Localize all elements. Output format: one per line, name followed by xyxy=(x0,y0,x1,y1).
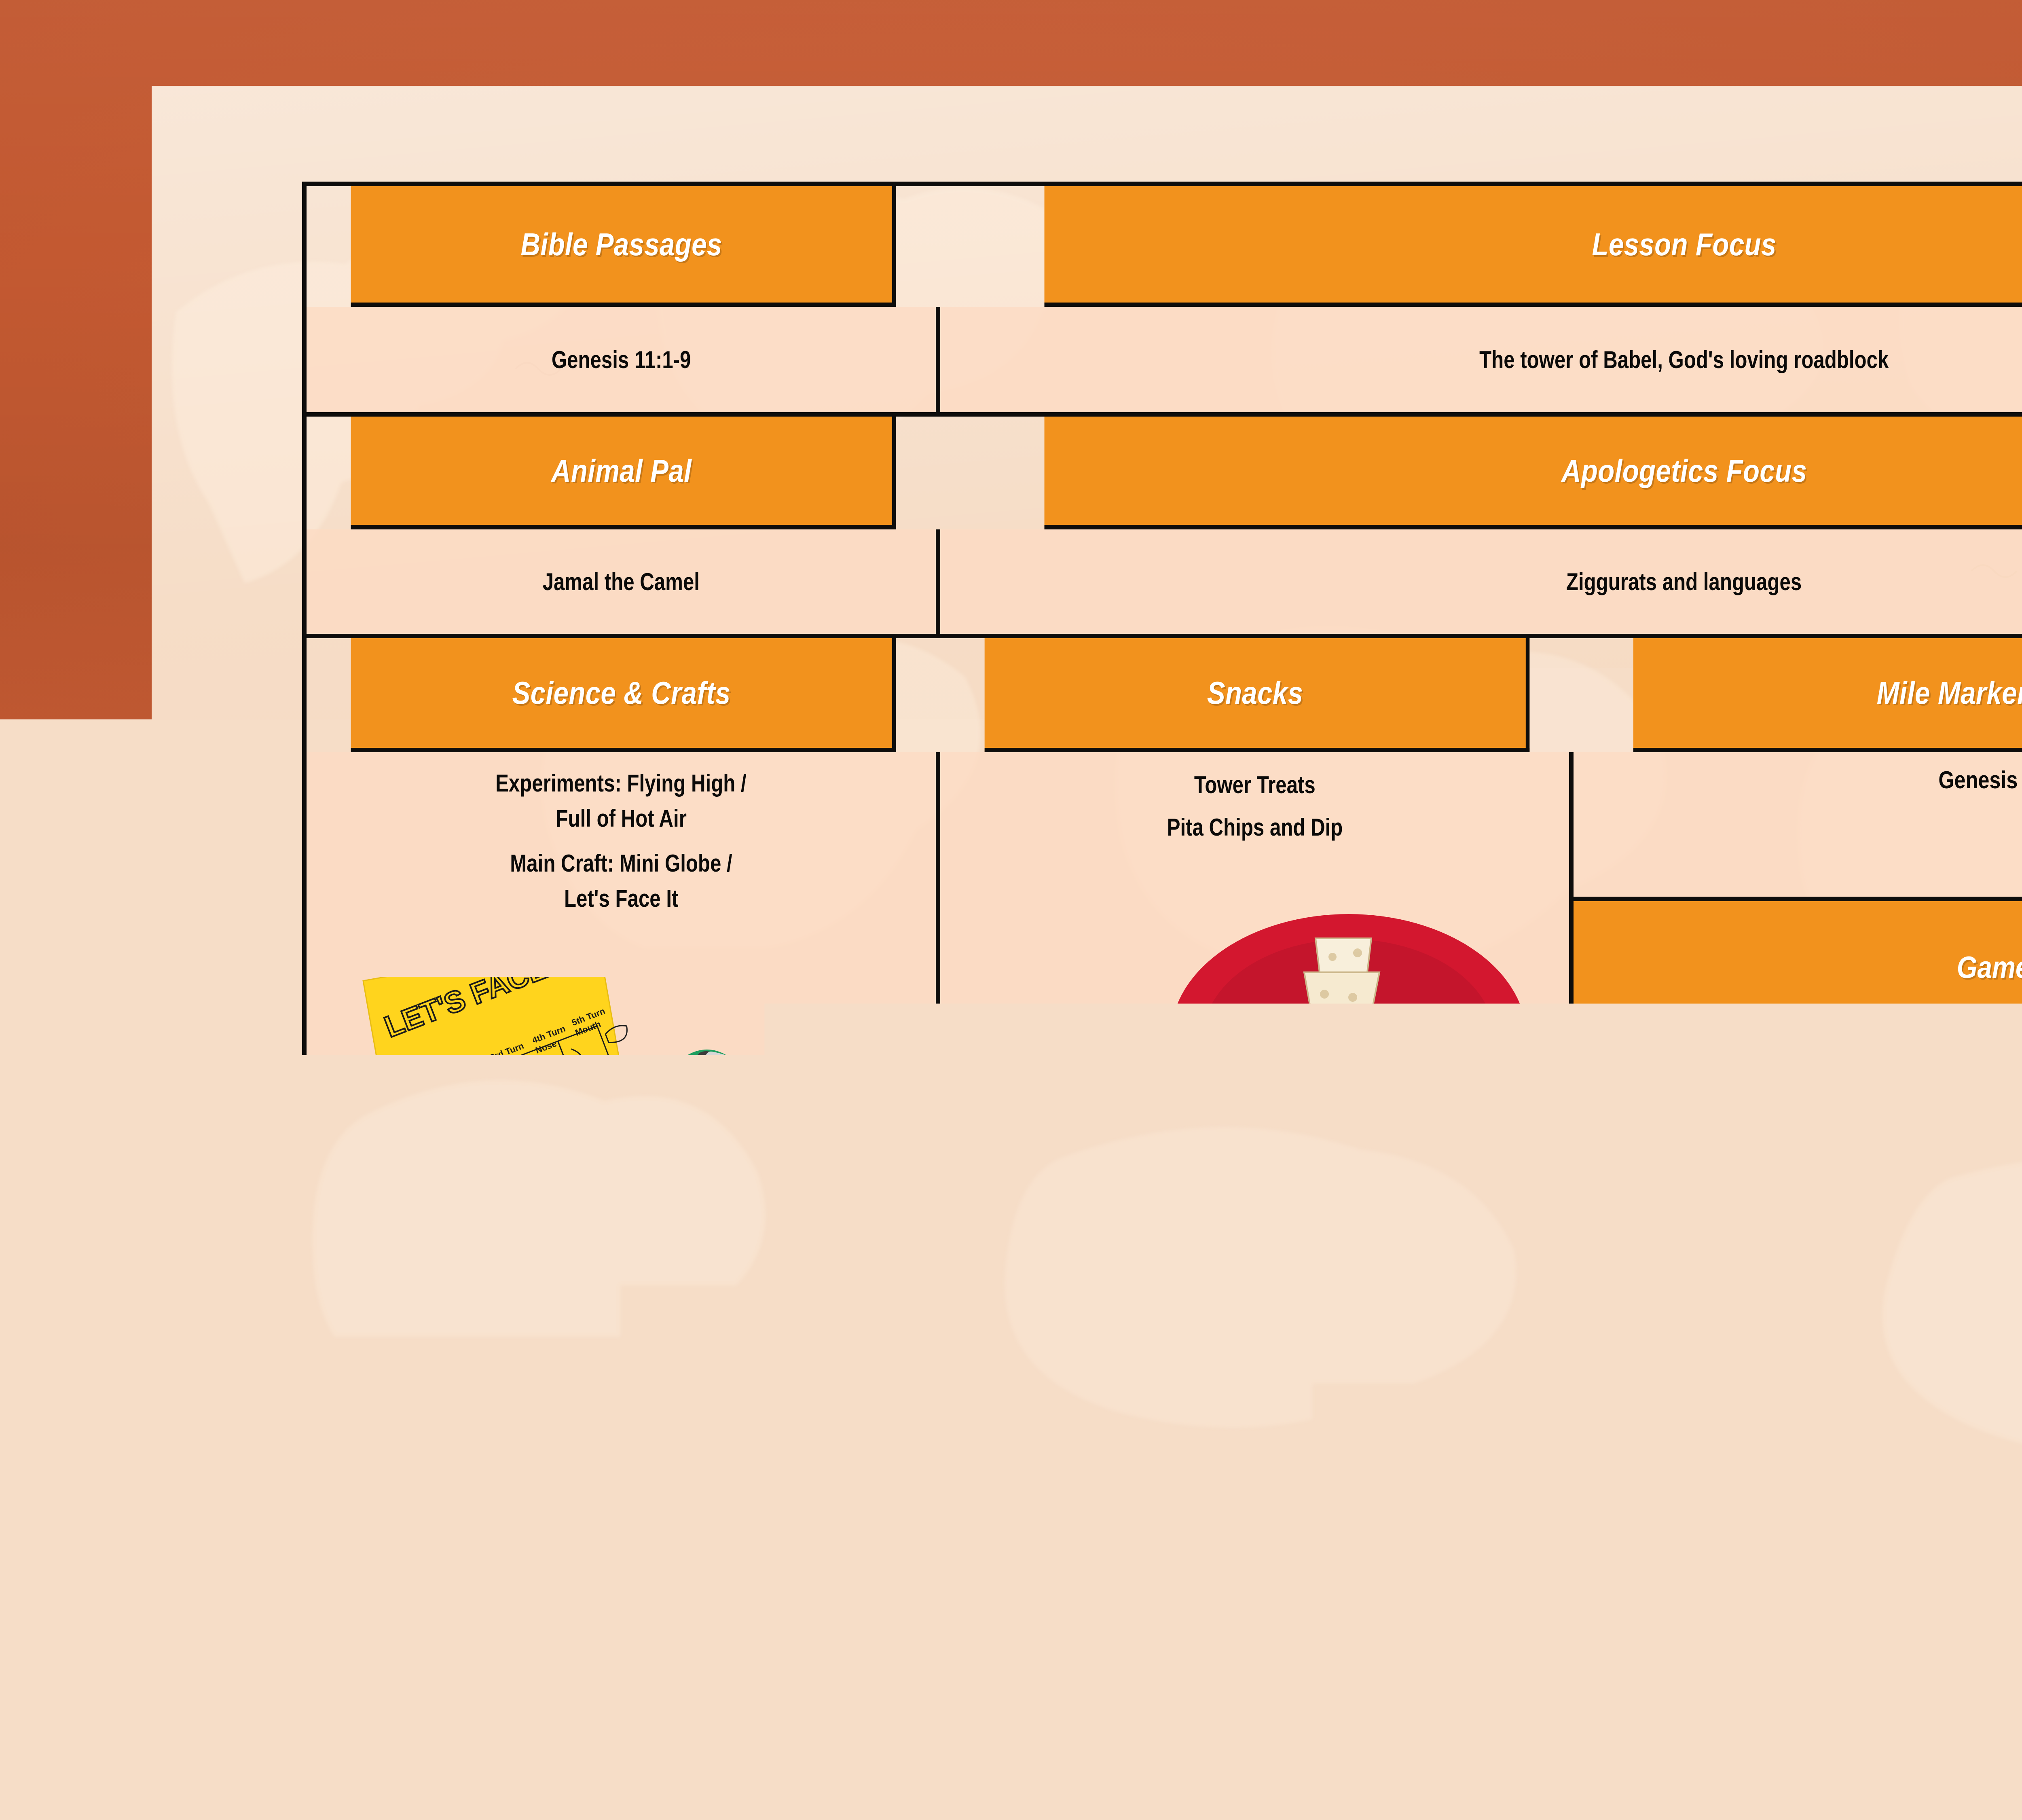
value-lesson-focus: The tower of Babel, God's loving roadblo… xyxy=(940,307,2022,417)
snack-photo xyxy=(944,874,1567,1407)
header-science-crafts: Science & Crafts xyxy=(351,638,896,752)
polka-dot-plate xyxy=(946,1095,1392,1404)
science-line-4: Let's Face It xyxy=(564,884,678,913)
science-line-1: Experiments: Flying High / xyxy=(496,768,747,798)
die-icon xyxy=(331,1244,393,1304)
header-animal-pal: Animal Pal xyxy=(351,417,896,529)
header-games: Games xyxy=(1574,901,2022,1039)
value-apologetics-focus: Ziggurats and languages xyxy=(940,529,2022,638)
mile-marker-stack: Genesis 11:9 Games Asian Games Cool Cont… xyxy=(1574,752,2022,1585)
table-row: Genesis 11:1-9 The tower of Babel, God's… xyxy=(307,307,2022,417)
lesson-overview-table: Bible Passages Lesson Focus Genesis 11:1… xyxy=(302,182,2022,1589)
header-lesson-focus: Lesson Focus xyxy=(1044,186,2022,307)
snack-line-1: Tower Treats xyxy=(1194,770,1316,800)
header-mile-marker-verses: Mile Marker Verses xyxy=(1633,638,2022,752)
value-bible-passages: Genesis 11:1-9 xyxy=(307,307,940,417)
table-row: Animal Pal Apologetics Focus xyxy=(307,417,2022,529)
slide-panel: Bible Passages Lesson Focus Genesis 11:1… xyxy=(152,86,2022,1707)
value-mile-marker-verse: Genesis 11:9 xyxy=(1574,752,2022,901)
snack-line-2: Pita Chips and Dip xyxy=(1167,813,1343,842)
header-snacks: Snacks xyxy=(984,638,1529,752)
value-cool-contest: Team Cheers xyxy=(1574,1310,2022,1583)
header-apologetics-focus: Apologetics Focus xyxy=(1044,417,2022,529)
craft-photo: LET'S FACE IT! 1st Turn Head 2nd Turn Ha… xyxy=(315,977,929,1377)
science-line-3: Main Craft: Mini Globe / xyxy=(510,849,732,878)
table-row: Jamal the Camel Ziggurats and languages xyxy=(307,529,2022,638)
table-row: Experiments: Flying High / Full of Hot A… xyxy=(307,752,2022,1585)
header-cool-contest: Cool Contest xyxy=(1574,1172,2022,1310)
table-row: Bible Passages Lesson Focus xyxy=(307,186,2022,307)
value-science-crafts: Experiments: Flying High / Full of Hot A… xyxy=(307,752,940,1585)
table-row: Science & Crafts Snacks Mile Marker Vers… xyxy=(307,638,2022,752)
value-snacks: Tower Treats Pita Chips and Dip xyxy=(940,752,1574,1585)
value-animal-pal: Jamal the Camel xyxy=(307,529,940,638)
header-bible-passages: Bible Passages xyxy=(351,186,896,307)
science-line-2: Full of Hot Air xyxy=(556,804,686,833)
value-games: Asian Games xyxy=(1574,1039,2022,1172)
